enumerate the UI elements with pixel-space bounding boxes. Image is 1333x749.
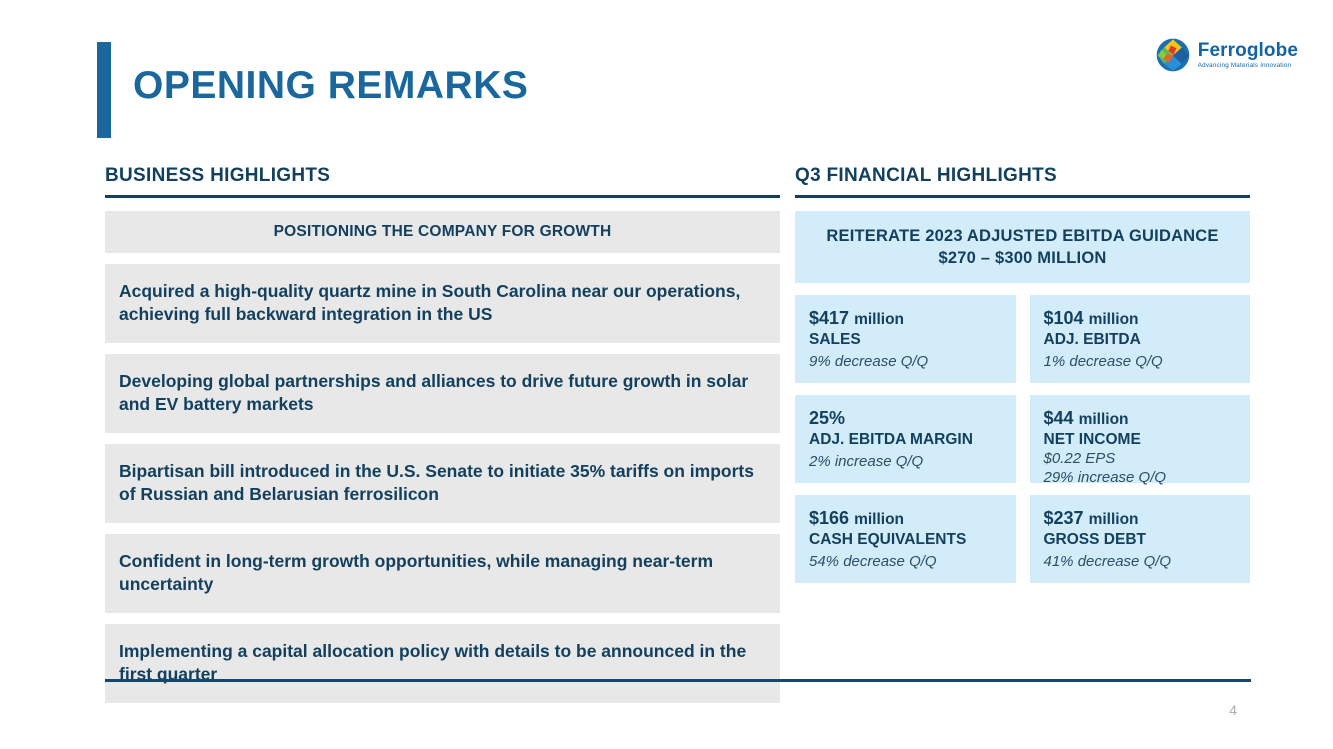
- metric-card-adj-ebitda: $104 million ADJ. EBITDA 1% decrease Q/Q: [1030, 295, 1251, 383]
- metric-value-unit: million: [1089, 311, 1139, 328]
- page-number: 4: [1229, 702, 1237, 718]
- highlight-item: Bipartisan bill introduced in the U.S. S…: [105, 444, 780, 523]
- metric-note: 1% decrease Q/Q: [1044, 352, 1237, 371]
- highlight-item: Acquired a high-quality quartz mine in S…: [105, 264, 780, 343]
- footer-rule: [105, 679, 1251, 682]
- metric-value: 25%: [809, 407, 1002, 430]
- logo-text: Ferroglobe Advancing Materials Innovatio…: [1198, 41, 1298, 69]
- metric-note: 54% decrease Q/Q: [809, 552, 1002, 571]
- metric-value-number: $104: [1044, 308, 1084, 328]
- ferroglobe-logo: Ferroglobe Advancing Materials Innovatio…: [1156, 38, 1298, 72]
- business-highlights-rule: [105, 195, 780, 198]
- metric-value-unit: million: [1089, 511, 1139, 528]
- metric-card-adj-ebitda-margin: 25% ADJ. EBITDA MARGIN 2% increase Q/Q: [795, 395, 1016, 483]
- metric-value-unit: million: [854, 511, 904, 528]
- metric-value: $237 million: [1044, 507, 1237, 530]
- metric-notes: 41% decrease Q/Q: [1044, 552, 1237, 571]
- metric-label: GROSS DEBT: [1044, 530, 1237, 549]
- metric-value-unit: million: [854, 311, 904, 328]
- highlight-text: Confident in long-term growth opportunit…: [119, 550, 766, 597]
- metric-value-number: $237: [1044, 508, 1084, 528]
- positioning-banner: POSITIONING THE COMPANY FOR GROWTH: [105, 211, 780, 253]
- metric-value: $417 million: [809, 307, 1002, 330]
- metric-label: NET INCOME: [1044, 430, 1237, 449]
- metric-note: 9% decrease Q/Q: [809, 352, 1002, 371]
- metric-value: $166 million: [809, 507, 1002, 530]
- metric-notes: 54% decrease Q/Q: [809, 552, 1002, 571]
- metric-value: $104 million: [1044, 307, 1237, 330]
- business-highlights-heading: BUSINESS HIGHLIGHTS: [105, 165, 780, 195]
- metric-card-sales: $417 million SALES 9% decrease Q/Q: [795, 295, 1016, 383]
- metric-value-unit: million: [1079, 411, 1129, 428]
- positioning-banner-text: POSITIONING THE COMPANY FOR GROWTH: [274, 223, 612, 241]
- metric-grid: $417 million SALES 9% decrease Q/Q $104 …: [795, 295, 1250, 583]
- slide-header: OPENING REMARKS Ferroglobe Advancing Mat…: [0, 0, 1333, 160]
- metric-card-cash-equivalents: $166 million CASH EQUIVALENTS 54% decrea…: [795, 495, 1016, 583]
- metric-note: $0.22 EPS: [1044, 449, 1237, 468]
- metric-notes: $0.22 EPS 29% increase Q/Q: [1044, 449, 1237, 487]
- ferroglobe-globe-icon: [1156, 38, 1190, 72]
- business-highlights-column: BUSINESS HIGHLIGHTS POSITIONING THE COMP…: [105, 165, 780, 703]
- highlight-item: Implementing a capital allocation policy…: [105, 624, 780, 703]
- metric-label: CASH EQUIVALENTS: [809, 530, 1002, 549]
- metric-card-net-income: $44 million NET INCOME $0.22 EPS 29% inc…: [1030, 395, 1251, 483]
- metric-value: $44 million: [1044, 407, 1237, 430]
- highlight-item: Confident in long-term growth opportunit…: [105, 534, 780, 613]
- financial-highlights-rule: [795, 195, 1250, 198]
- metric-value-number: $417: [809, 308, 849, 328]
- metric-value-number: 25%: [809, 408, 845, 428]
- metric-note: 29% increase Q/Q: [1044, 468, 1237, 487]
- guidance-line-1: REITERATE 2023 ADJUSTED EBITDA GUIDANCE: [826, 225, 1218, 247]
- metric-value-number: $166: [809, 508, 849, 528]
- metric-label: ADJ. EBITDA MARGIN: [809, 430, 1002, 449]
- metric-note: 41% decrease Q/Q: [1044, 552, 1237, 571]
- metric-notes: 9% decrease Q/Q: [809, 352, 1002, 371]
- highlight-text: Acquired a high-quality quartz mine in S…: [119, 280, 766, 327]
- logo-tagline: Advancing Materials Innovation: [1198, 63, 1298, 69]
- guidance-banner: REITERATE 2023 ADJUSTED EBITDA GUIDANCE …: [795, 211, 1250, 283]
- highlight-text: Developing global partnerships and allia…: [119, 370, 766, 417]
- page-title: OPENING REMARKS: [133, 64, 528, 108]
- metric-note: 2% increase Q/Q: [809, 452, 1002, 471]
- guidance-line-2: $270 – $300 MILLION: [939, 247, 1107, 269]
- metric-label: ADJ. EBITDA: [1044, 330, 1237, 349]
- logo-wordmark: Ferroglobe: [1198, 41, 1298, 60]
- title-accent-bar: [97, 42, 111, 138]
- metric-value-number: $44: [1044, 408, 1074, 428]
- highlight-text: Bipartisan bill introduced in the U.S. S…: [119, 460, 766, 507]
- metric-notes: 2% increase Q/Q: [809, 452, 1002, 471]
- financial-highlights-heading: Q3 FINANCIAL HIGHLIGHTS: [795, 165, 1250, 195]
- metric-label: SALES: [809, 330, 1002, 349]
- metric-notes: 1% decrease Q/Q: [1044, 352, 1237, 371]
- highlight-item: Developing global partnerships and allia…: [105, 354, 780, 433]
- financial-highlights-column: Q3 FINANCIAL HIGHLIGHTS REITERATE 2023 A…: [795, 165, 1250, 583]
- metric-card-gross-debt: $237 million GROSS DEBT 41% decrease Q/Q: [1030, 495, 1251, 583]
